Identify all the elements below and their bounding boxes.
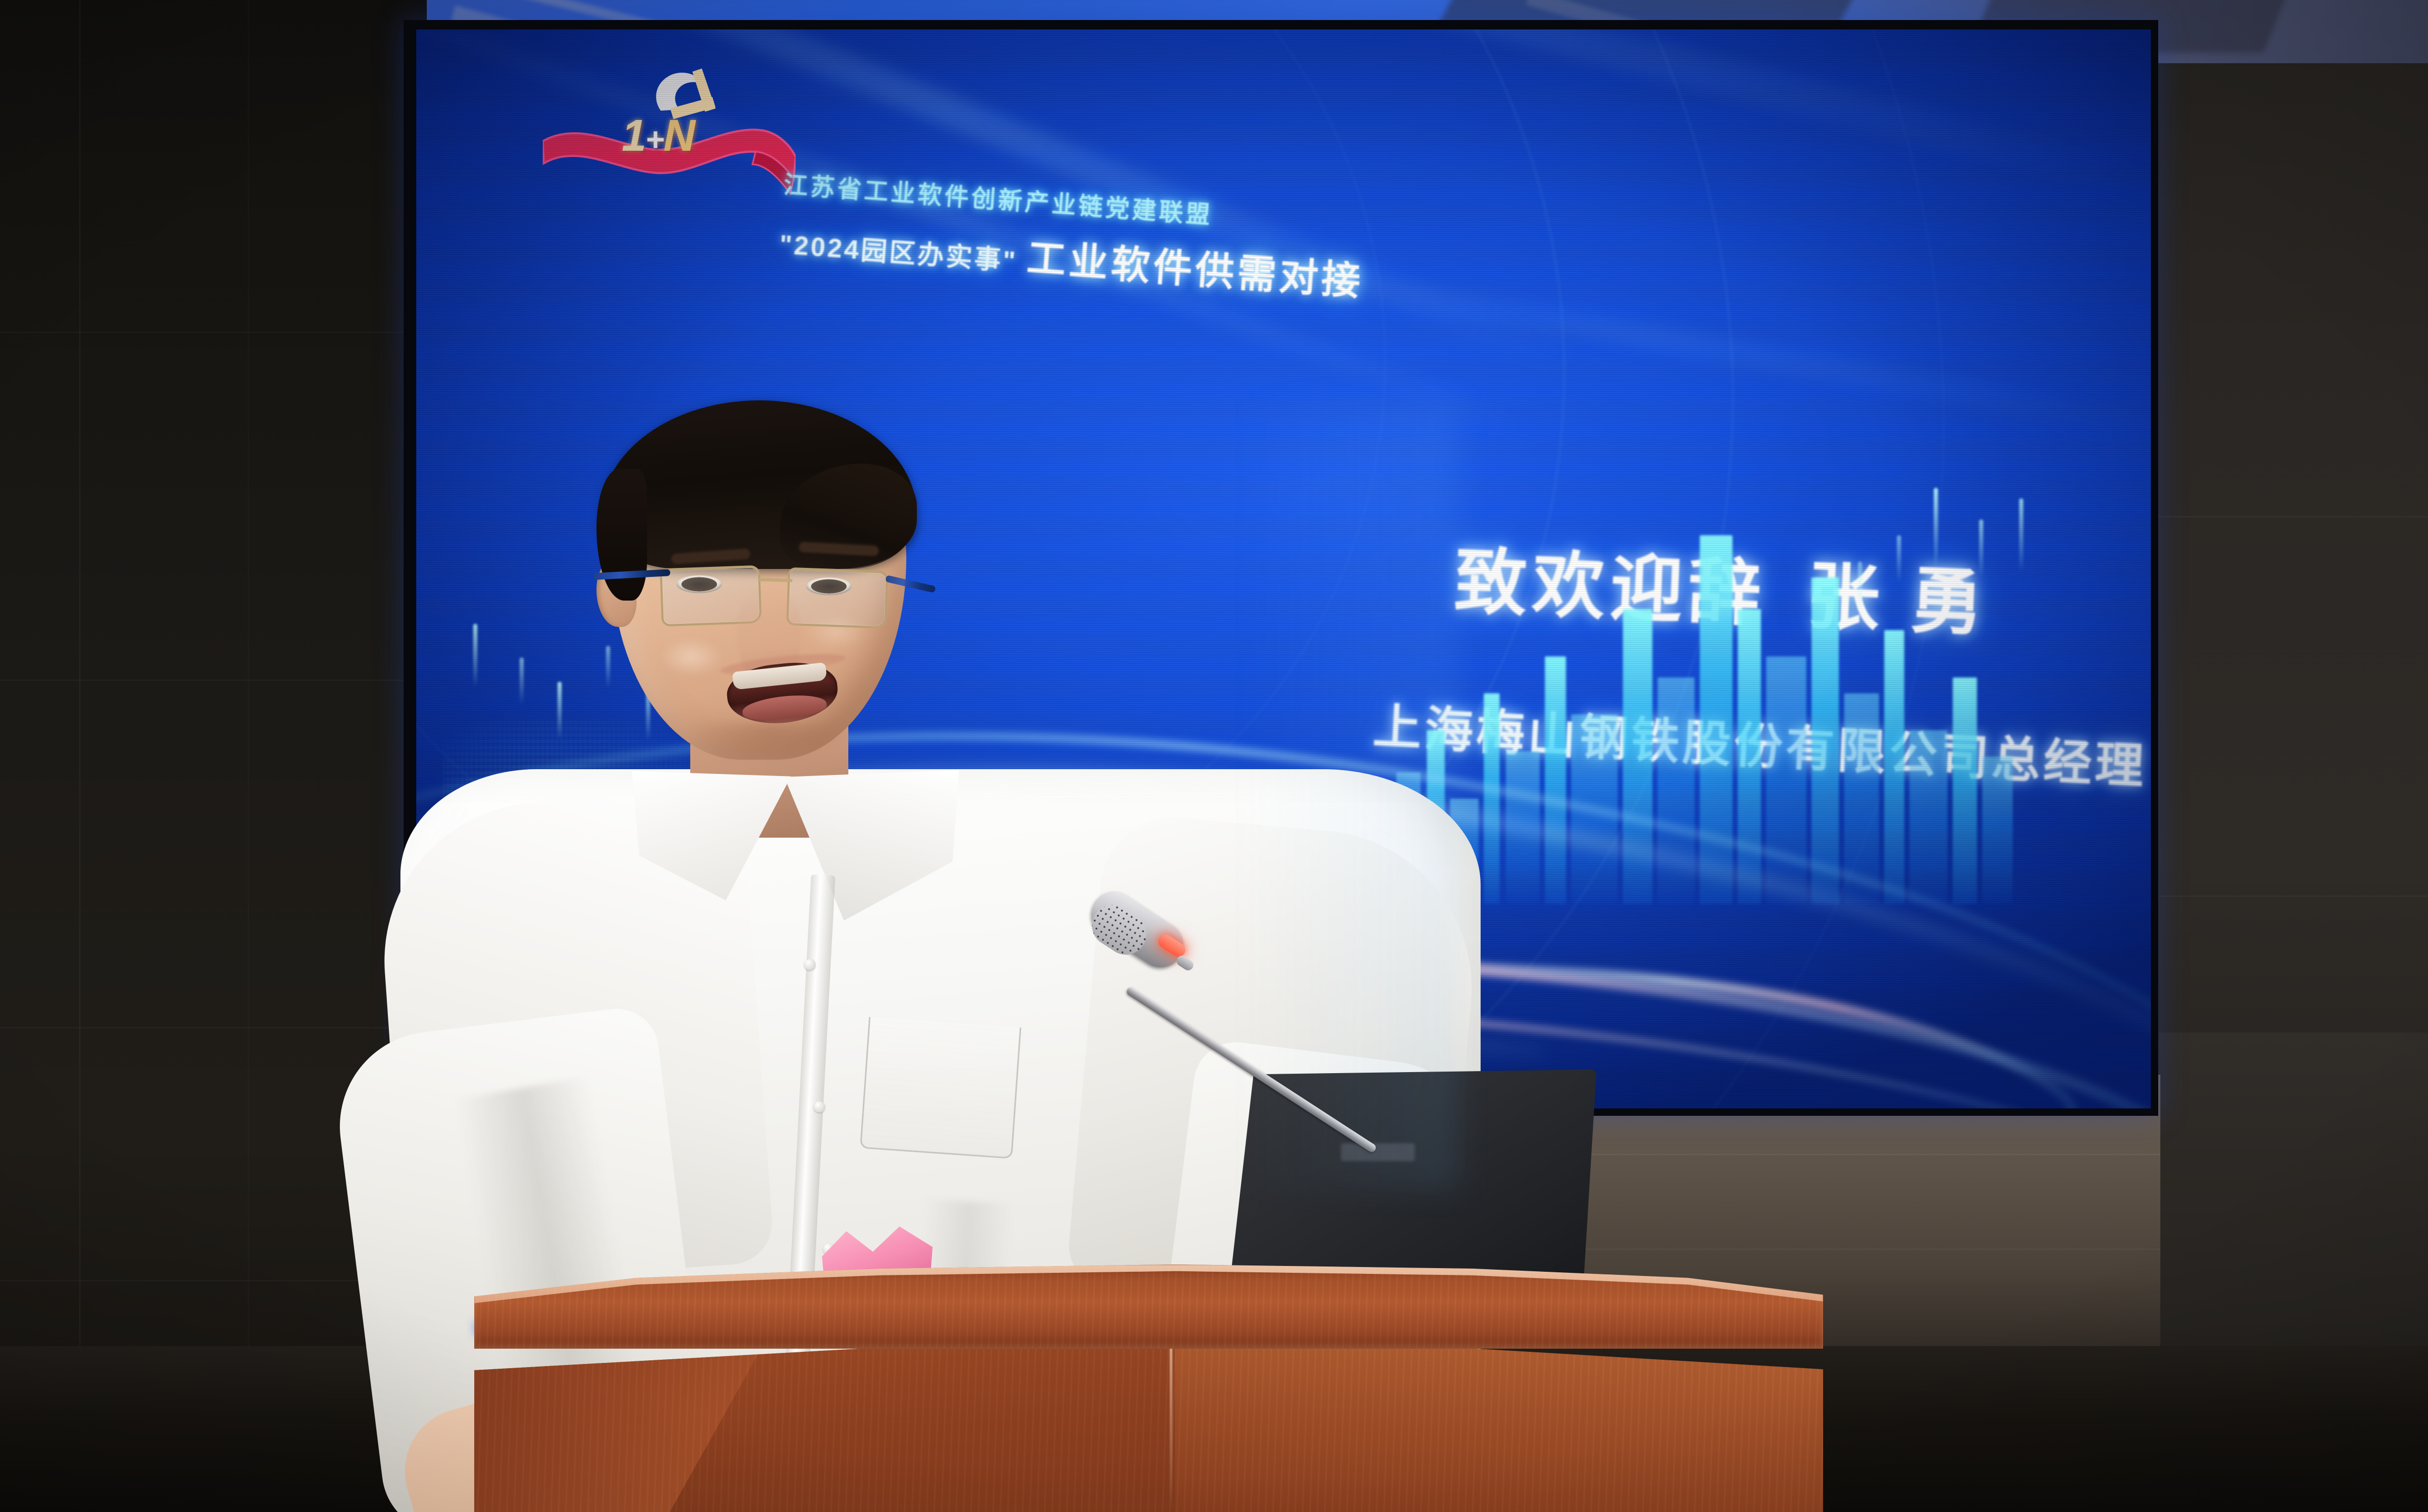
shirt-pocket — [860, 1017, 1022, 1159]
lens-right — [786, 567, 888, 629]
emblem-label: 1+N — [622, 112, 753, 159]
glasses-temple — [593, 569, 670, 580]
lectern-face-left — [474, 1331, 1180, 1512]
chin-shadow — [690, 723, 848, 765]
lectern-corner-seam — [1170, 1333, 1172, 1512]
wooden-lectern — [474, 1264, 1823, 1512]
cpc-party-emblem: 1+N — [543, 51, 796, 209]
mic-stem — [1125, 986, 1377, 1153]
shirt-button — [804, 959, 816, 970]
gooseneck-microphone[interactable] — [1064, 896, 1433, 1264]
shirt-button — [814, 1101, 825, 1113]
lectern-face-right — [1175, 1331, 1823, 1512]
conference-photo-scene: 1+N 江苏省工业软件创新产业链党建联盟 "2024园区办实事" 工业软件供需对… — [0, 0, 2428, 1512]
